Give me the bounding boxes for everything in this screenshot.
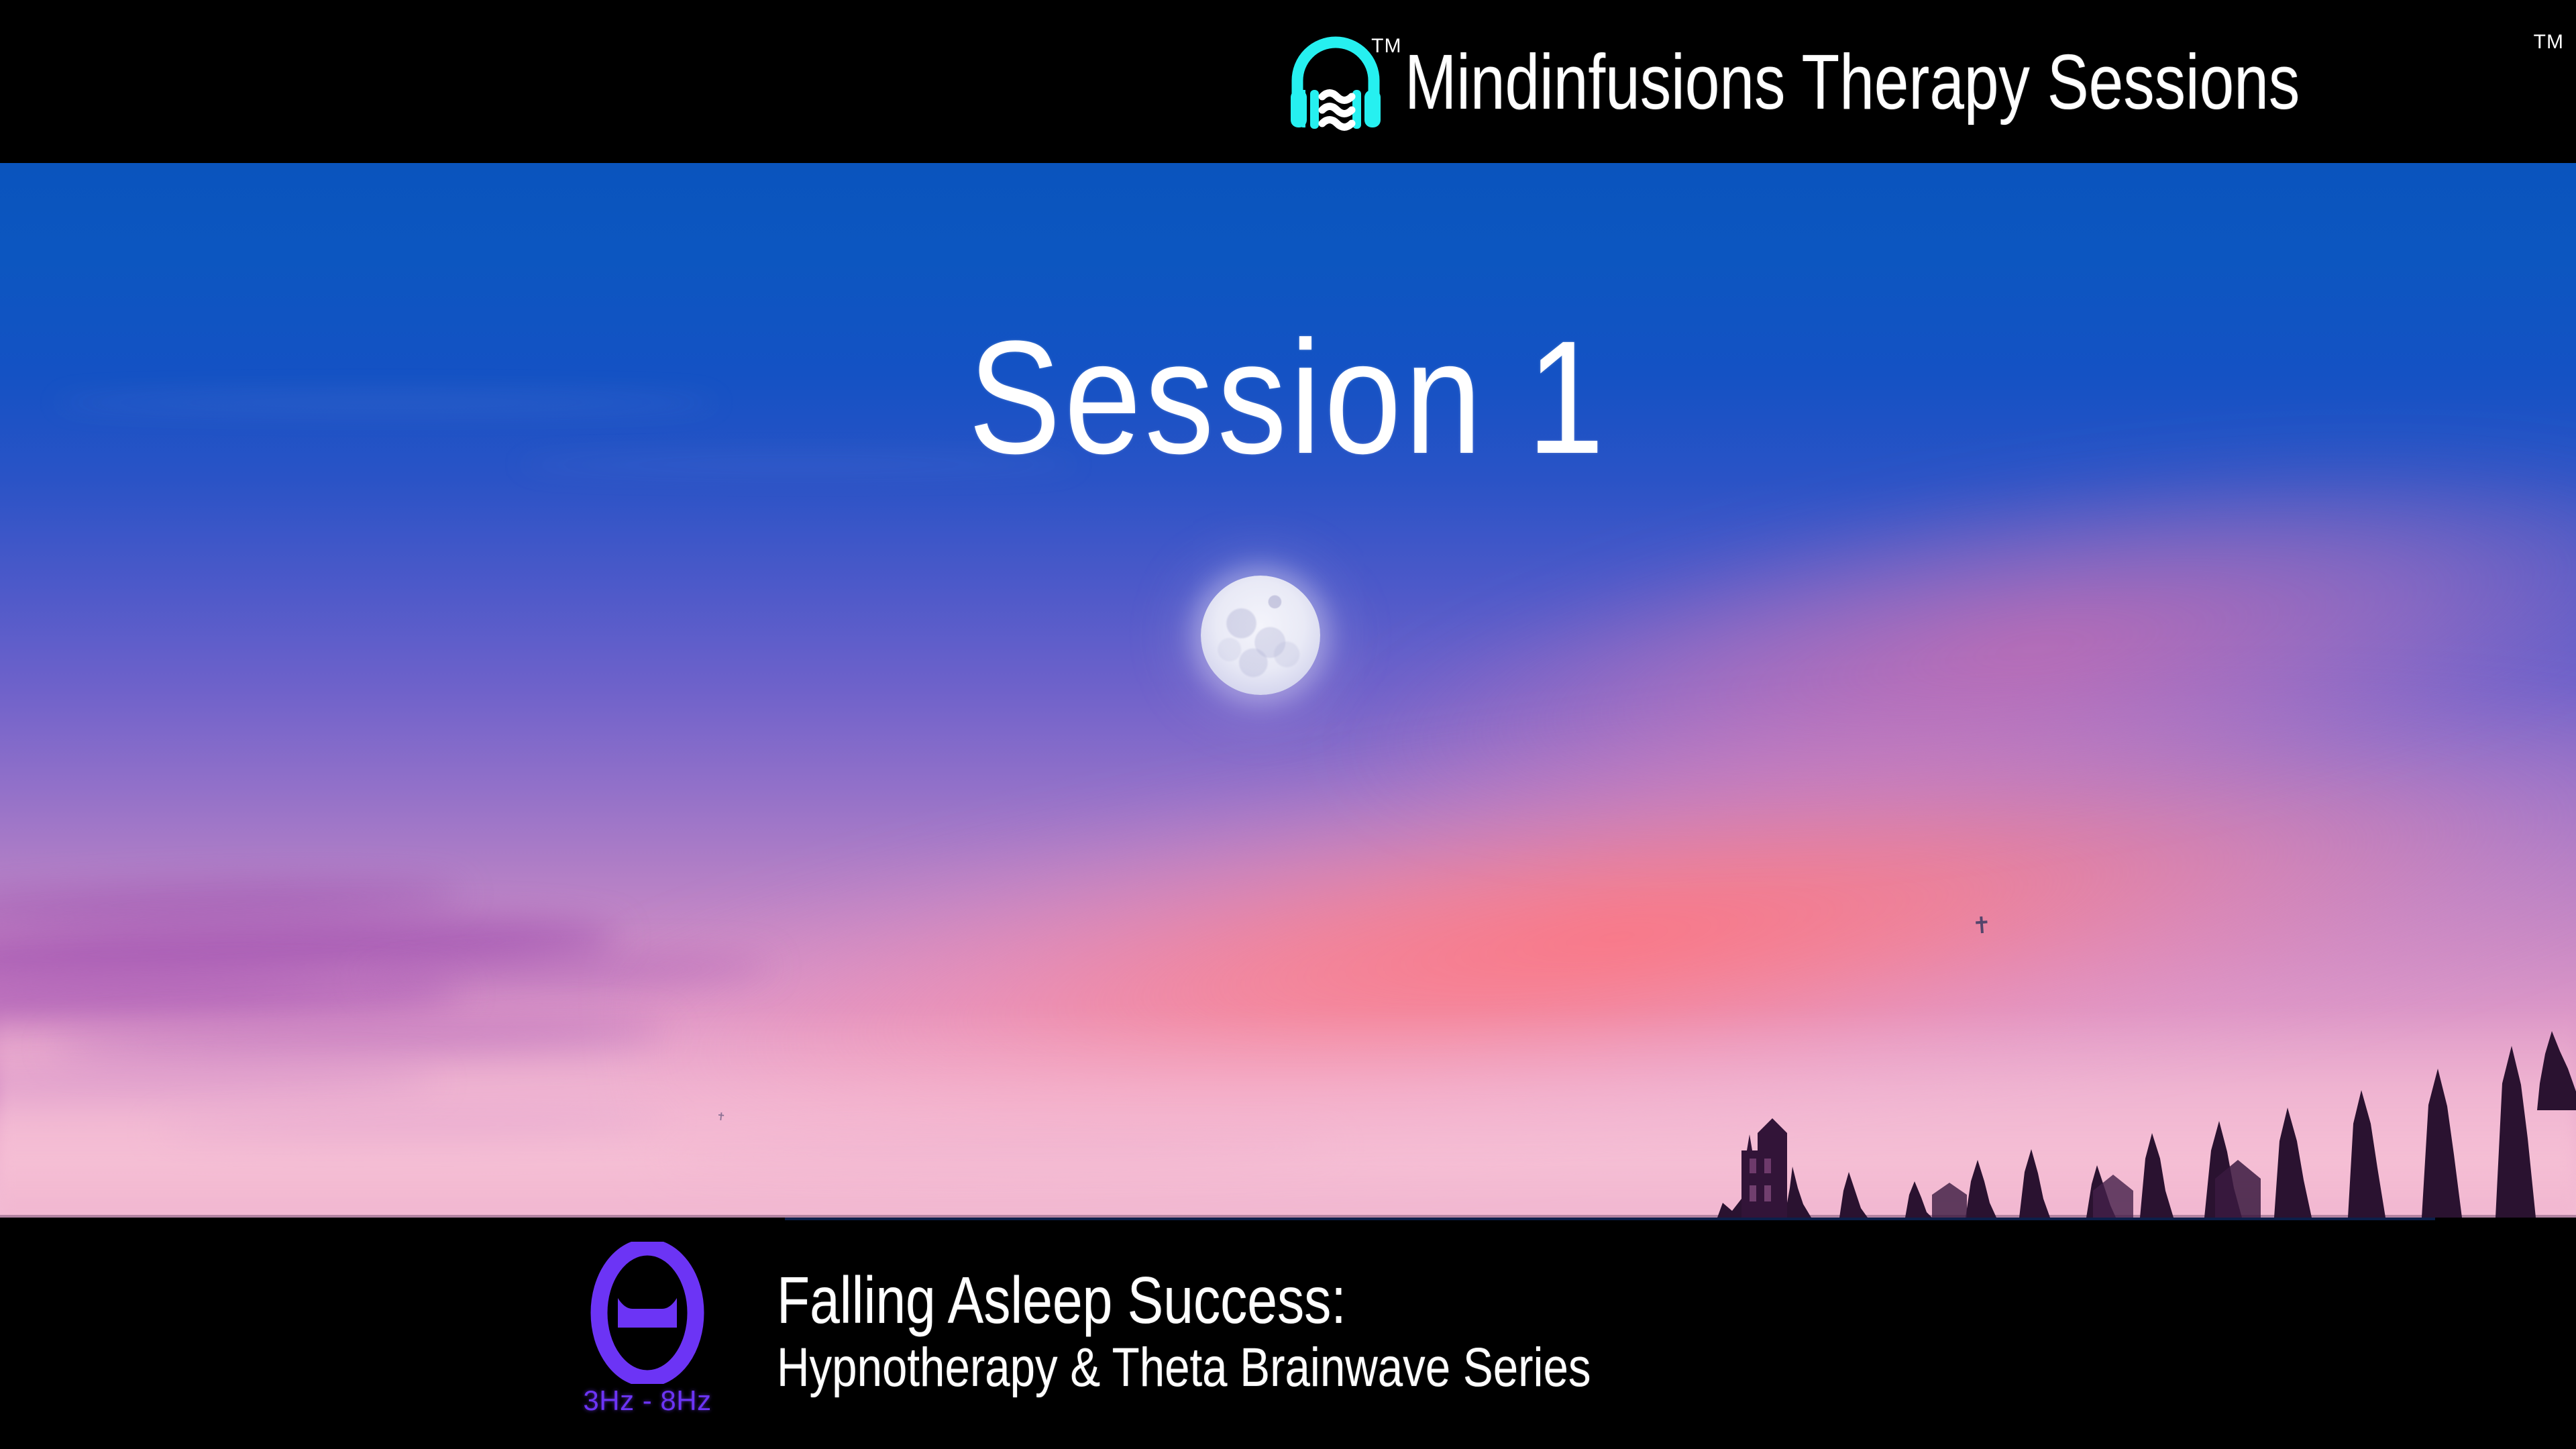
bird-silhouette-icon: ✝ bbox=[1972, 914, 1992, 938]
full-moon-icon bbox=[1201, 576, 1320, 695]
cirrus-wisp bbox=[515, 458, 1082, 471]
title-trademark-mark: TM bbox=[2534, 32, 2564, 52]
caption-secondary-line: Hypnotherapy & Theta Brainwave Series bbox=[777, 1339, 1591, 1396]
caption-text-block: Falling Asleep Success: Hypnotherapy & T… bbox=[777, 1267, 1770, 1400]
theta-frequency-badge: 3Hz - 8Hz bbox=[574, 1242, 721, 1415]
horizon-silhouette bbox=[0, 989, 2576, 1218]
brand-title: Mindinfusions Therapy Sessions bbox=[1405, 43, 2300, 121]
caption-primary-line: Falling Asleep Success: bbox=[777, 1267, 1591, 1335]
sunset-sky-background: ✝ ✝ bbox=[0, 163, 2576, 1218]
logo-container: TM bbox=[1285, 28, 1386, 136]
caption-footer-bar: 3Hz - 8Hz Falling Asleep Success: Hypnot… bbox=[0, 1218, 2576, 1449]
brand-header-bar: TM Mindinfusions Therapy Sessions TM bbox=[0, 0, 2576, 163]
video-frame: TM Mindinfusions Therapy Sessions TM ✝ ✝ bbox=[0, 0, 2576, 1449]
brand-lockup: TM Mindinfusions Therapy Sessions TM bbox=[1285, 28, 2524, 136]
theta-symbol-icon bbox=[588, 1242, 706, 1384]
cirrus-wisp bbox=[52, 395, 721, 410]
logo-trademark-mark: TM bbox=[1371, 36, 1401, 56]
frequency-range-label: 3Hz - 8Hz bbox=[583, 1387, 711, 1415]
